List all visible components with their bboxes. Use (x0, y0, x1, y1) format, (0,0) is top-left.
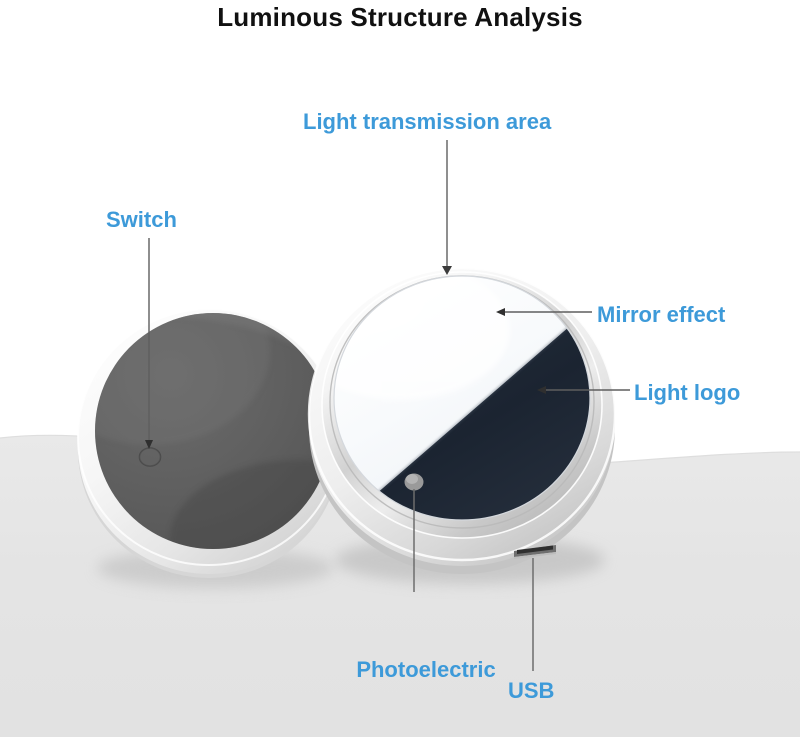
callout-label-light-logo: Light logo (634, 378, 740, 408)
device-mirror-front (290, 260, 640, 574)
callout-label-photoelectric-sensor-line1: Photoelectric (345, 655, 507, 685)
illustration-canvas: Luminous Structure Analysis Light transm… (0, 0, 800, 737)
callout-label-photoelectric-sensor: Photoelectric sensor (345, 596, 507, 737)
photoelectric-sensor-highlight (406, 474, 418, 484)
callout-label-usb: USB (508, 676, 554, 706)
switch-button-fill (140, 448, 161, 466)
page-title: Luminous Structure Analysis (0, 2, 800, 33)
callout-label-switch: Switch (106, 205, 177, 235)
callout-label-light-transmission-area: Light transmission area (303, 107, 551, 137)
callout-label-mirror-effect: Mirror effect (597, 300, 725, 330)
